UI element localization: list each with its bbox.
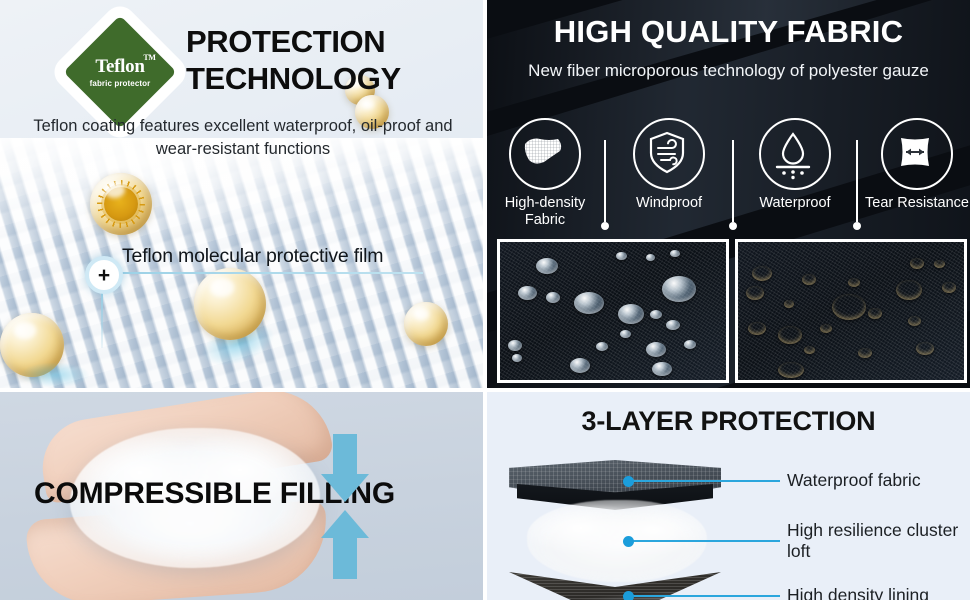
leader-line <box>628 540 780 542</box>
leader-line <box>628 480 780 482</box>
microbe-icon <box>104 187 138 221</box>
teflon-logo: TeflonTM fabric protector <box>66 18 174 126</box>
fabric-swatch-icon <box>509 118 581 190</box>
feature-row: High-density Fabric Windproof <box>487 118 970 233</box>
pillow-stretch-icon <box>881 118 953 190</box>
golden-droplet <box>194 268 266 340</box>
golden-droplet <box>404 302 448 346</box>
golden-droplet-with-microbe <box>90 173 152 235</box>
panel2-subtitle: New fiber microporous technology of poly… <box>527 60 930 83</box>
leader-dot <box>623 536 634 547</box>
feature-label: Windproof <box>615 195 723 212</box>
callout-stem <box>101 292 103 348</box>
layer-label-waterproof-fabric: Waterproof fabric <box>787 470 921 491</box>
panel-three-layer-protection: 3-LAYER PROTECTION Waterproof fabric Hig… <box>487 392 970 600</box>
leader-dot <box>623 591 634 600</box>
panel-protection-technology: TeflonTM fabric protector PROTECTION TEC… <box>0 0 483 388</box>
infographic-board: TeflonTM fabric protector PROTECTION TEC… <box>0 0 970 600</box>
feature-divider <box>856 140 858 222</box>
layer-label-high-density-lining: High density lining <box>787 585 929 600</box>
feature-high-density-fabric[interactable]: High-density Fabric <box>491 118 599 229</box>
feature-label: Tear Resistance <box>863 195 970 212</box>
photo-fabric-texture <box>500 242 726 380</box>
callout-label: Teflon molecular protective film <box>122 245 383 268</box>
panel-compressible-filling: COMPRESSIBLE FILLING <box>0 392 483 600</box>
callout-rule <box>116 272 423 274</box>
teflon-diamond-shape <box>63 15 176 128</box>
feature-windproof[interactable]: Windproof <box>615 118 723 212</box>
panel-high-quality-fabric: HIGH QUALITY FABRIC New fiber microporou… <box>487 0 970 388</box>
feature-waterproof[interactable]: Waterproof <box>741 118 849 212</box>
panel1-title: PROTECTION TECHNOLOGY <box>186 24 476 97</box>
water-droplet-icon <box>759 118 831 190</box>
feature-tear-resistance[interactable]: Tear Resistance <box>863 118 970 212</box>
layer-label-cluster-loft: High resilience cluster loft <box>787 520 970 563</box>
feature-label: Waterproof <box>741 195 849 212</box>
teal-highlight <box>20 362 90 388</box>
feature-divider <box>604 140 606 222</box>
water-beading-photo <box>497 239 729 383</box>
leader-line <box>628 595 780 597</box>
leader-dot <box>623 476 634 487</box>
oil-beading-photo <box>735 239 967 383</box>
feature-divider <box>732 140 734 222</box>
shield-wind-icon <box>633 118 705 190</box>
plus-marker-icon[interactable]: + <box>85 256 123 294</box>
feature-label: High-density Fabric <box>491 195 599 229</box>
panel2-title: HIGH QUALITY FABRIC <box>487 14 970 50</box>
panel1-subtitle: Teflon coating features excellent waterp… <box>28 115 458 162</box>
panel4-title: 3-LAYER PROTECTION <box>487 406 970 437</box>
